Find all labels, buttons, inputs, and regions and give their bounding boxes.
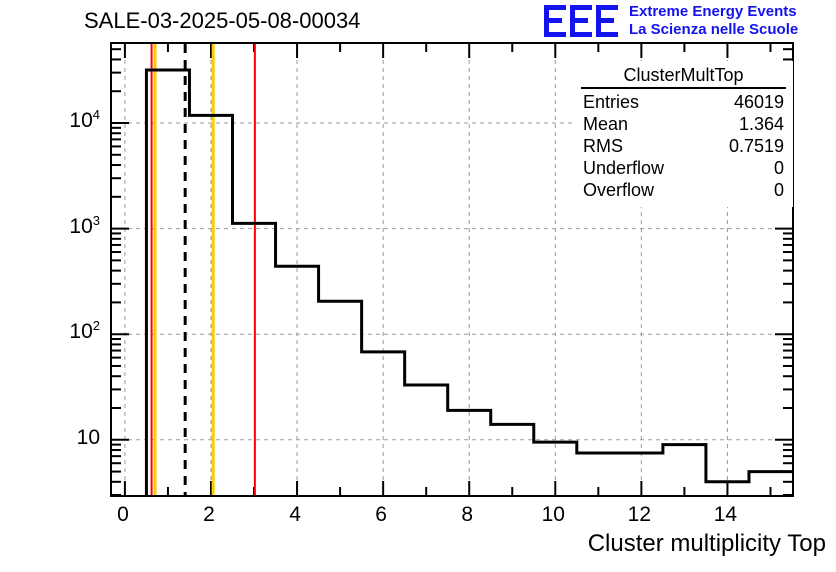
stats-row: RMS0.7519	[575, 135, 792, 157]
y-tick-label: 103	[69, 216, 100, 237]
stats-row: Mean1.364	[575, 113, 792, 135]
y-tick-label: 102	[69, 321, 100, 342]
marker-lines	[152, 44, 255, 495]
stats-row-value: 0.7519	[729, 135, 784, 157]
stats-row-key: Overflow	[583, 179, 654, 201]
x-tick-label: 12	[609, 504, 669, 525]
y-tick-label: 10	[77, 427, 100, 448]
stats-row: Overflow0	[575, 179, 792, 201]
x-tick-label: 0	[93, 504, 153, 525]
stats-row-value: 46019	[734, 91, 784, 113]
stats-row-key: RMS	[583, 135, 623, 157]
eee-logo-line2: La Scienza nelle Scuole	[629, 21, 798, 39]
stats-row-key: Underflow	[583, 157, 664, 179]
x-tick-label: 8	[437, 504, 497, 525]
stats-title: ClusterMultTop	[581, 64, 786, 89]
stats-row-key: Entries	[583, 91, 639, 113]
x-tick-label: 10	[523, 504, 583, 525]
eee-logo-mark-icon	[543, 4, 623, 38]
page-title: SALE-03-2025-05-08-00034	[84, 8, 360, 34]
y-tick-label: 104	[69, 110, 100, 131]
stats-row: Entries46019	[575, 91, 792, 113]
eee-logo: Extreme Energy Events La Scienza nelle S…	[543, 3, 833, 41]
stats-row-value: 1.364	[739, 113, 784, 135]
stats-row-value: 0	[774, 179, 784, 201]
stats-row-value: 0	[774, 157, 784, 179]
x-tick-label: 2	[179, 504, 239, 525]
stats-rows: Entries46019Mean1.364RMS0.7519Underflow0…	[575, 91, 792, 201]
stats-box: ClusterMultTop Entries46019Mean1.364RMS0…	[574, 61, 793, 207]
canvas: SALE-03-2025-05-08-00034 Extreme Energy …	[0, 0, 836, 572]
stats-row: Underflow0	[575, 157, 792, 179]
eee-logo-line1: Extreme Energy Events	[629, 3, 798, 21]
x-tick-label: 4	[265, 504, 325, 525]
eee-logo-text: Extreme Energy Events La Scienza nelle S…	[629, 3, 798, 39]
x-tick-label: 14	[695, 504, 755, 525]
stats-row-key: Mean	[583, 113, 628, 135]
x-tick-label: 6	[351, 504, 411, 525]
x-axis-title: Cluster multiplicity Top	[588, 530, 826, 558]
